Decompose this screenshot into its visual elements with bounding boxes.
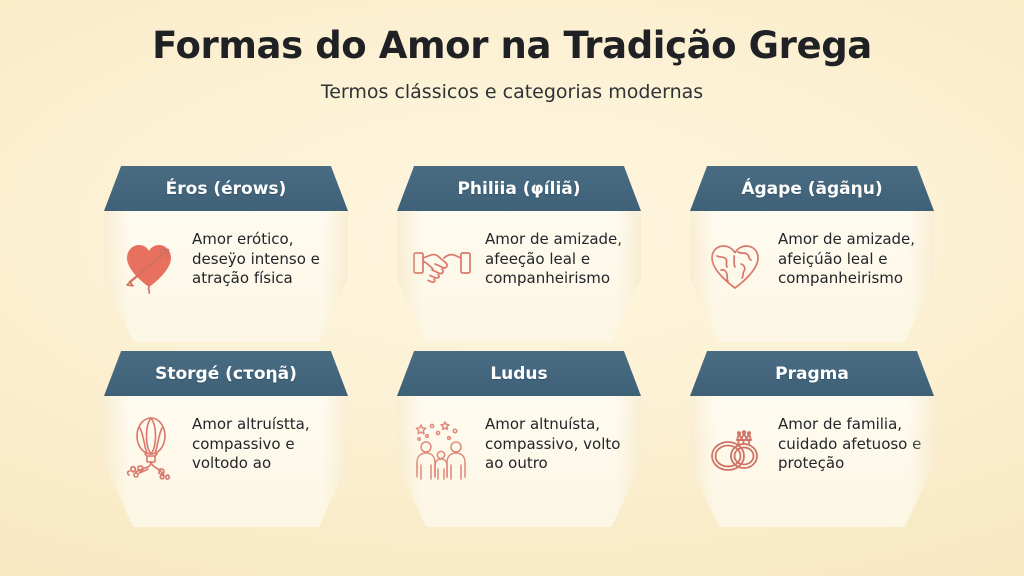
- card-title: Pragma: [775, 364, 849, 384]
- handshake-icon: [409, 229, 475, 301]
- card-eros[interactable]: Éros (érows) Amor erótico, deseÿo intens…: [104, 166, 348, 342]
- card-pragma[interactable]: Pragma: [690, 351, 934, 527]
- card-title: Éros (érows): [166, 179, 287, 199]
- card-body: Amor altruístta, compassivo e voltodo ao: [104, 396, 348, 527]
- heart-with-arrow-icon: [116, 229, 182, 301]
- card-description: Amor de amizade, afeiçúão leal e companh…: [778, 227, 922, 289]
- card-header: Éros (érows): [104, 166, 348, 211]
- card-body: Amor de familia, cuidado afetuoso e prot…: [690, 396, 934, 527]
- card-body: Amor erótico, deseÿo intenso e atração f…: [104, 211, 348, 342]
- heart-globe-icon: [702, 229, 768, 301]
- card-agape[interactable]: Ágape (āgãηu) Amor de amizade, afeiçúão …: [690, 166, 934, 342]
- card-title: Ludus: [490, 364, 547, 384]
- card-body: Amor altnuísta, compassivo, volto ao out…: [397, 396, 641, 527]
- love-types-grid: Éros (érows) Amor erótico, deseÿo intens…: [104, 166, 934, 527]
- infographic-page: Formas do Amor na Tradição Grega Termos …: [0, 0, 1024, 576]
- card-header: Storgé (cτoηã): [104, 351, 348, 396]
- title-block: Formas do Amor na Tradição Grega Termos …: [0, 0, 1024, 103]
- page-subtitle: Termos clássicos e categorias modernas: [0, 81, 1024, 103]
- card-header: Philiia (φíliã): [397, 166, 641, 211]
- card-description: Amor altnuísta, compassivo, volto ao out…: [485, 412, 629, 474]
- page-title: Formas do Amor na Tradição Grega: [0, 26, 1024, 67]
- card-description: Amor de amizade, afeeção leal e companhe…: [485, 227, 629, 289]
- card-title: Ágape (āgãηu): [741, 179, 882, 199]
- family-with-stars-icon: [409, 414, 475, 486]
- wedding-rings-icon: [702, 414, 768, 486]
- card-body: Amor de amizade, afeeção leal e companhe…: [397, 211, 641, 342]
- card-title: Philiia (φíliã): [457, 179, 580, 199]
- card-philia[interactable]: Philiia (φíliã) Amor: [397, 166, 641, 342]
- card-body: Amor de amizade, afeiçúão leal e companh…: [690, 211, 934, 342]
- card-ludus[interactable]: Ludus: [397, 351, 641, 527]
- card-header: Ágape (āgãηu): [690, 166, 934, 211]
- card-title: Storgé (cτoηã): [155, 364, 297, 384]
- card-storge[interactable]: Storgé (cτoηã): [104, 351, 348, 527]
- card-description: Amor altruístta, compassivo e voltodo ao: [192, 412, 336, 474]
- card-description: Amor de familia, cuidado afetuoso e prot…: [778, 412, 922, 474]
- card-description: Amor erótico, deseÿo intenso e atração f…: [192, 227, 336, 289]
- hot-air-balloon-icon: [116, 414, 182, 486]
- card-header: Pragma: [690, 351, 934, 396]
- card-header: Ludus: [397, 351, 641, 396]
